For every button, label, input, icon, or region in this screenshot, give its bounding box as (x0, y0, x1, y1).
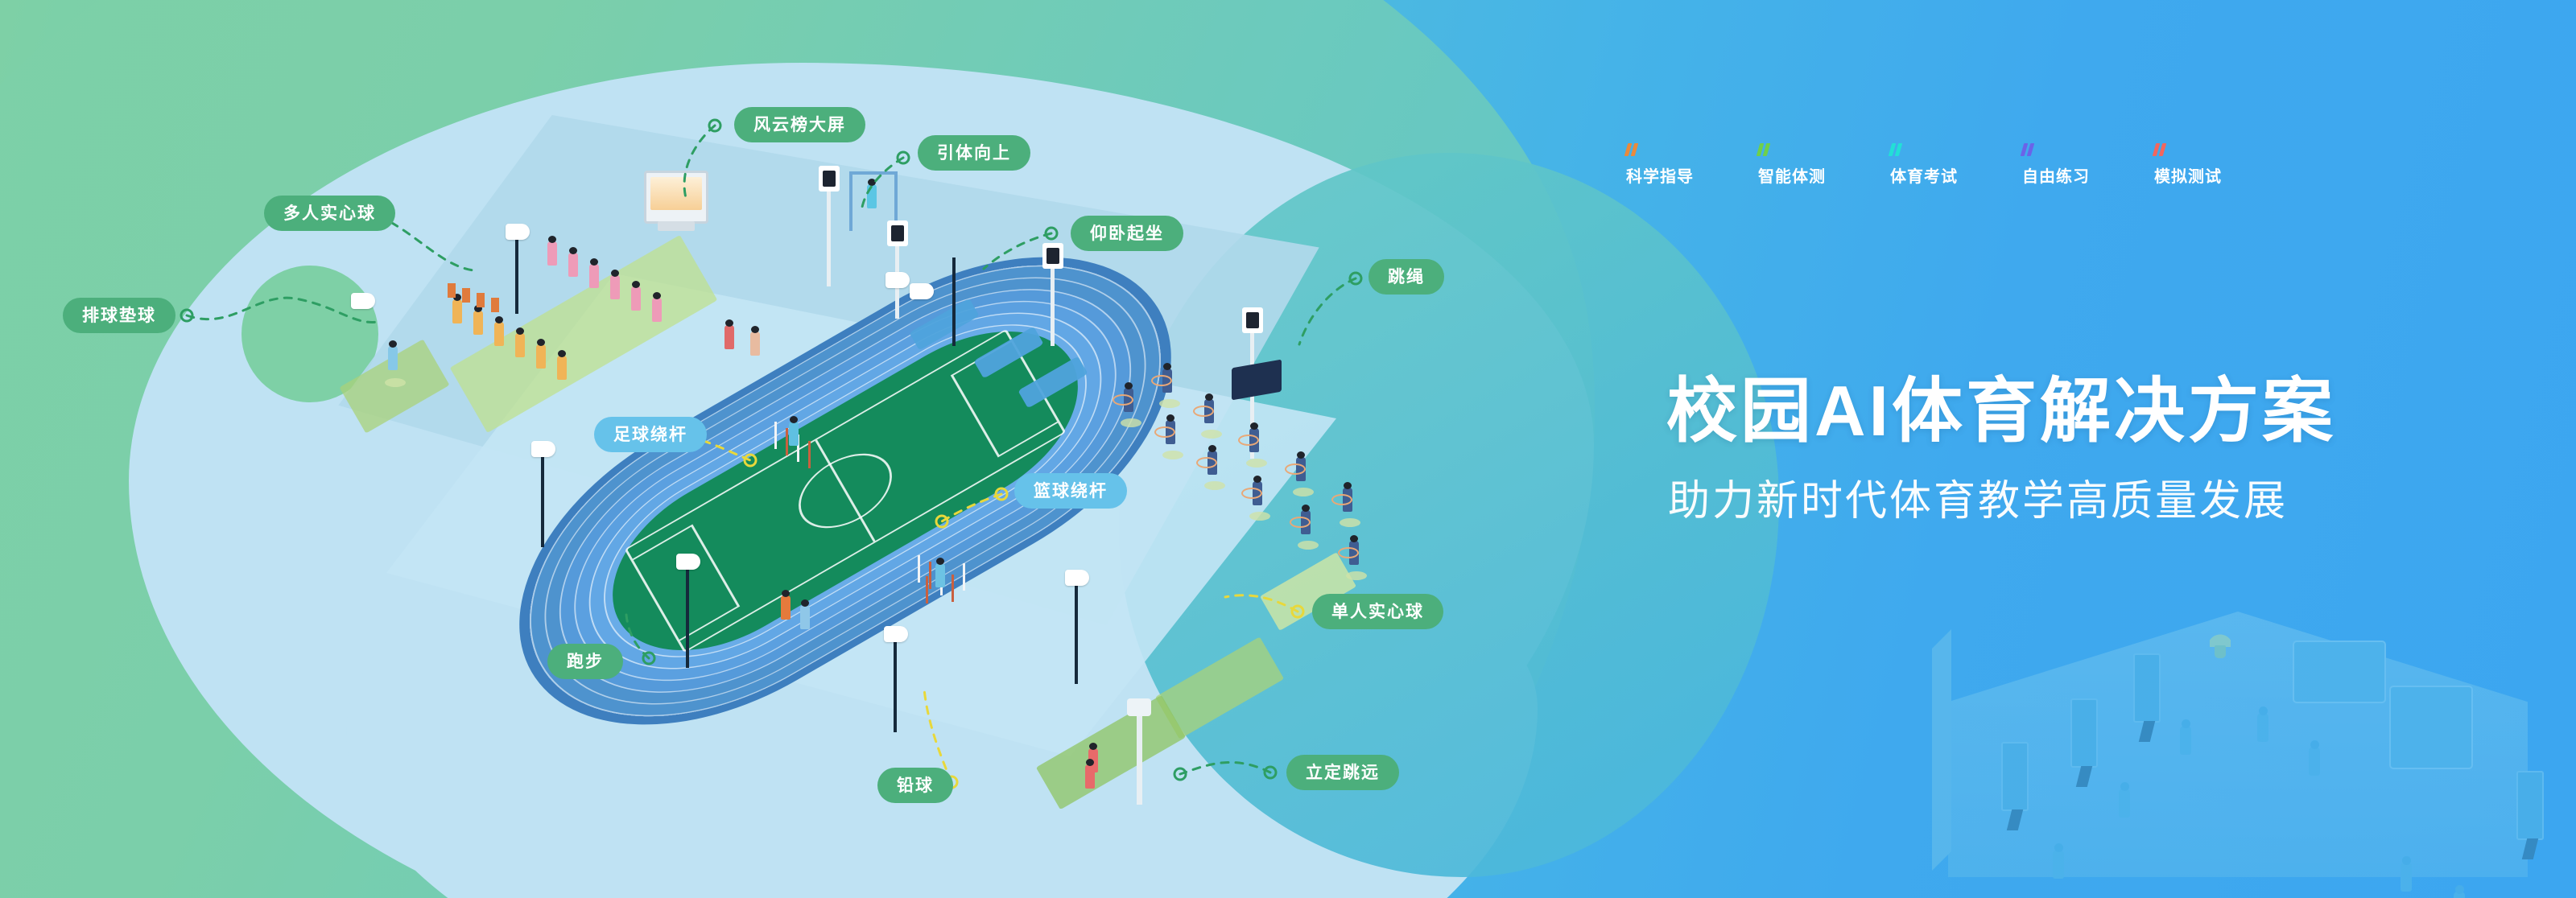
gym-wall-screen (2293, 641, 2386, 703)
double-slash-icon (2154, 143, 2222, 156)
lamp-post (1137, 708, 1142, 805)
feature-tag-3[interactable]: 体育考试 (1890, 143, 1958, 187)
gym-plant (2207, 621, 2231, 658)
security-camera-icon (506, 224, 530, 240)
gym-athlete (2180, 726, 2191, 755)
security-camera-icon (910, 283, 934, 299)
runner (724, 325, 734, 349)
feature-tag-label: 科学指导 (1626, 163, 1694, 187)
feature-tag-1[interactable]: 科学指导 (1626, 143, 1694, 187)
feature-tag-label: 智能体测 (1758, 163, 1826, 187)
map-label-8[interactable]: 篮球绕杆 (1014, 473, 1127, 509)
double-slash-icon (1758, 143, 1826, 156)
gym-kiosk (2070, 698, 2098, 768)
gym-athlete (2053, 850, 2064, 879)
security-camera-icon (351, 293, 375, 309)
page-subtitle: 助力新时代体育教学高质量发展 (1668, 467, 2288, 527)
map-label-4[interactable]: 引体向上 (918, 135, 1030, 171)
map-label-7[interactable]: 足球绕杆 (594, 417, 707, 452)
runner (800, 605, 810, 629)
runner (781, 595, 791, 620)
athlete-shadow (385, 378, 406, 387)
security-camera-icon (676, 554, 700, 570)
gym-kiosk (2133, 653, 2161, 723)
face-recognition-panel (1042, 243, 1063, 269)
map-label-10[interactable]: 跑步 (547, 644, 623, 679)
camera-pole (541, 451, 544, 547)
face-panel-pole (1051, 266, 1055, 346)
camera-pole (1075, 579, 1078, 684)
hero-banner: 排球垫球多人实心球风云榜大屏引体向上仰卧起坐跳绳足球绕杆篮球绕杆单人实心球跑步铅… (0, 0, 2576, 898)
gym-wall (1932, 629, 1951, 871)
security-camera-icon (531, 441, 555, 457)
gym-kiosk (2516, 771, 2544, 840)
indoor-gym-illustration (1900, 563, 2576, 898)
gym-kiosk (2001, 742, 2029, 811)
map-label-11[interactable]: 铅球 (877, 768, 953, 803)
double-slash-icon (1890, 143, 1958, 156)
security-camera-icon (885, 272, 910, 288)
hero-content: 科学指导智能体测体育考试自由练习模拟测试 (1626, 143, 2431, 187)
longjump-athlete (1085, 764, 1095, 789)
feature-tag-label: 模拟测试 (2154, 163, 2222, 187)
map-label-9[interactable]: 单人实心球 (1312, 594, 1443, 629)
feature-tag-4[interactable]: 自由练习 (2022, 143, 2090, 187)
double-slash-icon (2022, 143, 2090, 156)
leaderboard-kiosk (644, 171, 708, 224)
gym-athlete (2401, 863, 2412, 892)
page-title: 校园AI体育解决方案 (1666, 354, 2336, 456)
security-camera-icon (884, 626, 908, 642)
feature-tag-list: 科学指导智能体测体育考试自由练习模拟测试 (1626, 143, 2431, 187)
pullup-athlete (867, 184, 877, 208)
lamp-head (1127, 698, 1151, 716)
gym-dashboard-screen (2389, 686, 2473, 769)
volleyball-athlete (388, 346, 398, 370)
map-label-2[interactable]: 多人实心球 (264, 196, 395, 231)
feature-tag-2[interactable]: 智能体测 (1758, 143, 1826, 187)
gym-athlete (2454, 892, 2465, 898)
feature-tag-label: 自由练习 (2022, 163, 2090, 187)
camera-pole (686, 563, 689, 668)
runner (750, 332, 760, 356)
map-label-3[interactable]: 风云榜大屏 (734, 107, 865, 142)
camera-pole (952, 257, 956, 346)
gym-athlete (2257, 713, 2268, 742)
face-panel-pole (827, 190, 831, 286)
hurdle-row (448, 283, 576, 332)
map-label-6[interactable]: 跳绳 (1368, 259, 1444, 295)
map-label-12[interactable]: 立定跳远 (1286, 755, 1399, 790)
gym-athlete (2309, 747, 2320, 776)
feature-tag-label: 体育考试 (1890, 163, 1958, 187)
camera-pole (894, 636, 897, 732)
double-slash-icon (1626, 143, 1694, 156)
gym-athlete (2119, 789, 2130, 818)
basketball-athlete (935, 563, 945, 587)
face-recognition-panel (887, 220, 908, 246)
feature-tag-5[interactable]: 模拟测试 (2154, 143, 2222, 187)
face-recognition-panel (819, 166, 840, 192)
security-camera-icon (1065, 570, 1089, 586)
face-recognition-panel (1242, 307, 1263, 333)
map-label-1[interactable]: 排球垫球 (63, 298, 175, 333)
football-athlete (789, 422, 799, 446)
map-label-5[interactable]: 仰卧起坐 (1071, 216, 1183, 251)
